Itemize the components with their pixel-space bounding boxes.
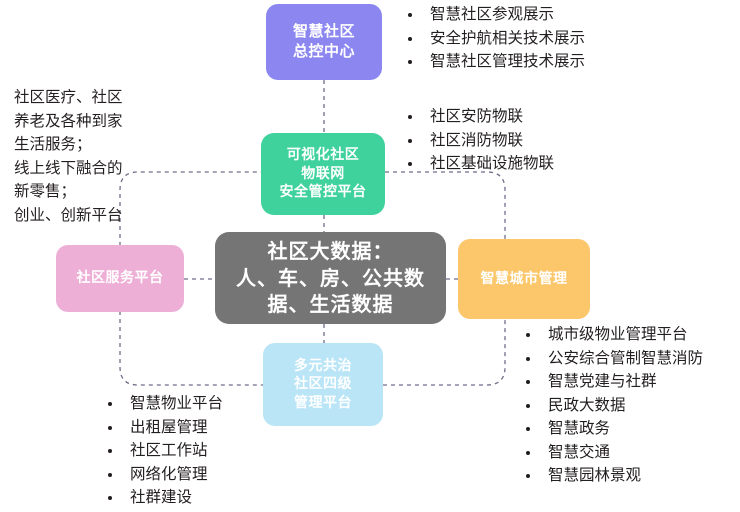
node-big-data[interactable]: 社区大数据： 人、车、房、公共数 据、生活数据 <box>215 232 446 324</box>
list-item: 社群建设 <box>100 486 223 510</box>
list-item: 智慧社区管理技术展示 <box>400 50 585 74</box>
list-item: 网络化管理 <box>100 463 223 487</box>
node-big-data-line-1: 社区大数据： <box>236 238 425 264</box>
node-governance-platform-line-3: 管理平台 <box>294 394 352 412</box>
list-item: 智慧社区参观展示 <box>400 3 585 27</box>
annotation-list-city-management: 城市级物业管理平台 公安综合管制智慧消防 智慧党建与社群 民政大数据 智慧政务 … <box>518 323 703 488</box>
list-item: 社区基础设施物联 <box>400 152 554 176</box>
node-governance-platform-line-1: 多元共治 <box>294 357 352 375</box>
annotation-list-control-center: 智慧社区参观展示 安全护航相关技术展示 智慧社区管理技术展示 <box>400 3 585 74</box>
node-big-data-line-2: 人、车、房、公共数 <box>236 265 425 291</box>
list-item: 社区安防物联 <box>400 105 554 129</box>
list-item: 智慧交通 <box>518 441 703 465</box>
list-item: 社区工作站 <box>100 439 223 463</box>
list-item: 智慧物业平台 <box>100 392 223 416</box>
node-big-data-line-3: 据、生活数据 <box>236 291 425 317</box>
node-iot-platform[interactable]: 可视化社区 物联网 安全管控平台 <box>261 133 385 215</box>
annotation-list-governance: 智慧物业平台 出租屋管理 社区工作站 网络化管理 社群建设 <box>100 392 223 510</box>
list-item: 智慧党建与社群 <box>518 370 703 394</box>
node-city-management[interactable]: 智慧城市管理 <box>458 239 590 319</box>
node-iot-platform-line-1: 可视化社区 <box>280 146 367 164</box>
list-item: 出租屋管理 <box>100 416 223 440</box>
annotation-service-description: 社区医疗、社区 养老及各种到家 生活服务； 线上线下融合的 新零售； 创业、创新… <box>14 86 189 227</box>
annotation-list-iot: 社区安防物联 社区消防物联 社区基础设施物联 <box>400 105 554 176</box>
list-item: 安全护航相关技术展示 <box>400 27 585 51</box>
node-city-management-label: 智慧城市管理 <box>481 270 568 288</box>
node-iot-platform-line-2: 物联网 <box>280 165 367 183</box>
node-control-center-line-2: 总控中心 <box>293 42 355 62</box>
node-iot-platform-line-3: 安全管控平台 <box>280 183 367 201</box>
list-item: 公安综合管制智慧消防 <box>518 347 703 371</box>
list-item: 城市级物业管理平台 <box>518 323 703 347</box>
list-item: 智慧政务 <box>518 417 703 441</box>
diagram-canvas: 智慧社区 总控中心 可视化社区 物联网 安全管控平台 社区大数据： 人、车、房、… <box>0 0 740 512</box>
node-control-center[interactable]: 智慧社区 总控中心 <box>266 4 382 80</box>
node-control-center-line-1: 智慧社区 <box>293 22 355 42</box>
node-service-platform-label: 社区服务平台 <box>77 269 164 287</box>
list-item: 智慧园林景观 <box>518 464 703 488</box>
node-service-platform[interactable]: 社区服务平台 <box>56 245 184 312</box>
node-governance-platform-line-2: 社区四级 <box>294 375 352 393</box>
list-item: 民政大数据 <box>518 394 703 418</box>
node-governance-platform[interactable]: 多元共治 社区四级 管理平台 <box>263 343 383 426</box>
list-item: 社区消防物联 <box>400 129 554 153</box>
